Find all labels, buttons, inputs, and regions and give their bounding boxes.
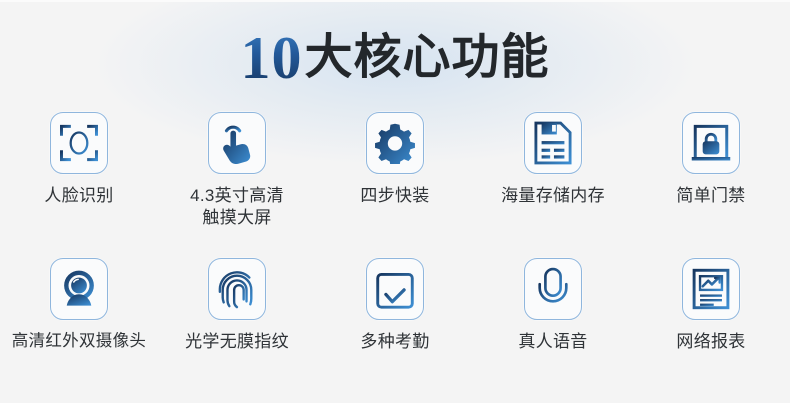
feature-tile [50, 258, 108, 320]
feature-item-fingerprint[interactable]: 光学无膜指纹 [158, 258, 316, 386]
feature-tile [208, 112, 266, 174]
feature-label: 网络报表 [676, 331, 745, 353]
feature-tile [208, 258, 266, 320]
feature-row-2: 高清红外双摄像头 [0, 258, 790, 386]
feature-label: 简单门禁 [676, 185, 745, 207]
feature-item-storage[interactable]: 海量存储内存 [474, 112, 632, 242]
webcam-icon [58, 268, 100, 310]
feature-tile [50, 112, 108, 174]
feature-label: 真人语音 [518, 331, 587, 353]
title-number: 10 [240, 25, 302, 91]
feature-tile [366, 112, 424, 174]
feature-tile [524, 112, 582, 174]
floppy-disk-storage-icon [534, 121, 572, 165]
feature-label: 4.3英寸高清 触摸大屏 [190, 185, 284, 230]
feature-label: 高清红外双摄像头 [12, 331, 146, 353]
face-recognition-icon [58, 122, 100, 164]
feature-row-1: 人脸识别 4.3英寸高清 触摸大屏 [0, 112, 790, 242]
feature-tile [524, 258, 582, 320]
feature-showcase-page: 10大核心功能 [0, 0, 790, 403]
feature-item-touchscreen[interactable]: 4.3英寸高清 触摸大屏 [158, 112, 316, 242]
feature-label: 多种考勤 [360, 331, 429, 353]
touch-hand-icon [217, 122, 257, 164]
feature-grid: 人脸识别 4.3英寸高清 触摸大屏 [0, 112, 790, 386]
feature-label: 海量存储内存 [501, 185, 605, 207]
feature-item-voice[interactable]: 真人语音 [474, 258, 632, 386]
title-text: 大核心功能 [304, 31, 549, 84]
feature-item-report[interactable]: 网络报表 [632, 258, 790, 386]
feature-tile [682, 258, 740, 320]
fingerprint-icon [217, 267, 257, 311]
report-chart-icon [691, 268, 731, 310]
feature-tile [682, 112, 740, 174]
feature-item-attendance[interactable]: 多种考勤 [316, 258, 474, 386]
microphone-icon [534, 267, 572, 311]
feature-label: 光学无膜指纹 [185, 331, 289, 353]
feature-item-access-control[interactable]: 简单门禁 [632, 112, 790, 242]
feature-item-quick-install[interactable]: 四步快装 [316, 112, 474, 242]
page-title: 10大核心功能 [0, 22, 790, 94]
feature-item-face-recognition[interactable]: 人脸识别 [0, 112, 158, 242]
top-divider [0, 0, 790, 2]
feature-tile [366, 258, 424, 320]
gear-icon [374, 122, 416, 164]
feature-label: 四步快装 [360, 185, 429, 207]
feature-label: 人脸识别 [44, 185, 113, 207]
calendar-check-icon [375, 268, 415, 310]
door-lock-icon [690, 122, 732, 164]
feature-item-camera[interactable]: 高清红外双摄像头 [0, 258, 158, 386]
